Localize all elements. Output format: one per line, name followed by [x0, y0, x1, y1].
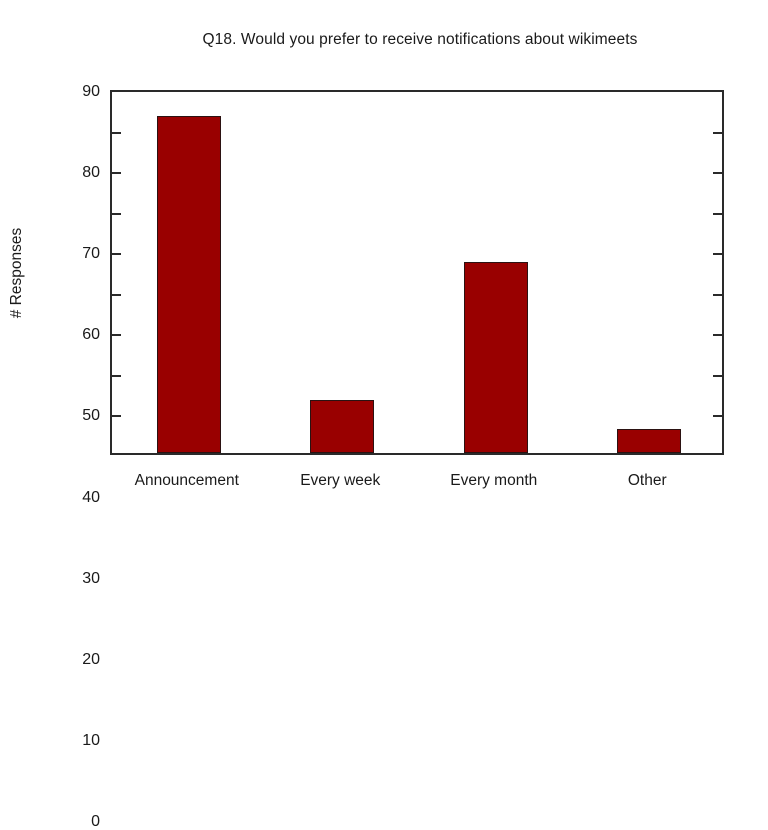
y-axis-tick-mark	[713, 132, 722, 134]
y-axis-tick-mark	[112, 415, 121, 417]
y-axis-tick-label: 50	[38, 408, 100, 424]
y-axis-tick-mark	[713, 213, 722, 215]
y-axis-tick-label: 10	[38, 733, 100, 749]
bar	[464, 262, 528, 453]
y-axis-tick-mark	[112, 294, 121, 296]
y-axis-tick-mark	[713, 334, 722, 336]
y-axis-tick-label: 90	[38, 84, 100, 100]
x-axis-tick-label: Announcement	[135, 472, 239, 490]
bar	[157, 116, 221, 453]
y-axis-tick-label: 20	[38, 652, 100, 668]
y-axis-tick-label: 30	[38, 571, 100, 587]
chart-title: Q18. Would you prefer to receive notific…	[0, 31, 768, 49]
y-axis-tick-mark	[713, 375, 722, 377]
y-axis-tick-mark	[713, 415, 722, 417]
bar	[617, 429, 681, 453]
y-axis-tick-mark	[112, 172, 121, 174]
y-axis-tick-mark	[112, 213, 121, 215]
y-axis-tick-label: 80	[38, 165, 100, 181]
y-axis-tick-label: 0	[38, 814, 100, 830]
y-axis-tick-mark	[713, 294, 722, 296]
x-axis-tick-label: Every month	[450, 472, 537, 490]
y-axis-tick-mark	[112, 132, 121, 134]
y-axis-tick-label: 60	[38, 327, 100, 343]
y-axis-tick-mark	[112, 253, 121, 255]
bar	[310, 400, 374, 453]
y-axis-title: # Responses	[3, 90, 31, 455]
y-axis-tick-mark	[713, 253, 722, 255]
bar-chart: Q18. Would you prefer to receive notific…	[0, 0, 768, 512]
y-axis-tick-mark	[713, 172, 722, 174]
y-axis-tick-label: 40	[38, 490, 100, 506]
y-axis-tick-label: 70	[38, 246, 100, 262]
y-axis-tick-mark	[112, 375, 121, 377]
y-axis-title-text: # Responses	[8, 227, 26, 317]
x-axis-tick-label: Every week	[300, 472, 380, 490]
y-axis-tick-mark	[112, 334, 121, 336]
plot-area: 0102030405060708090	[110, 90, 724, 455]
x-axis-tick-label: Other	[628, 472, 667, 490]
